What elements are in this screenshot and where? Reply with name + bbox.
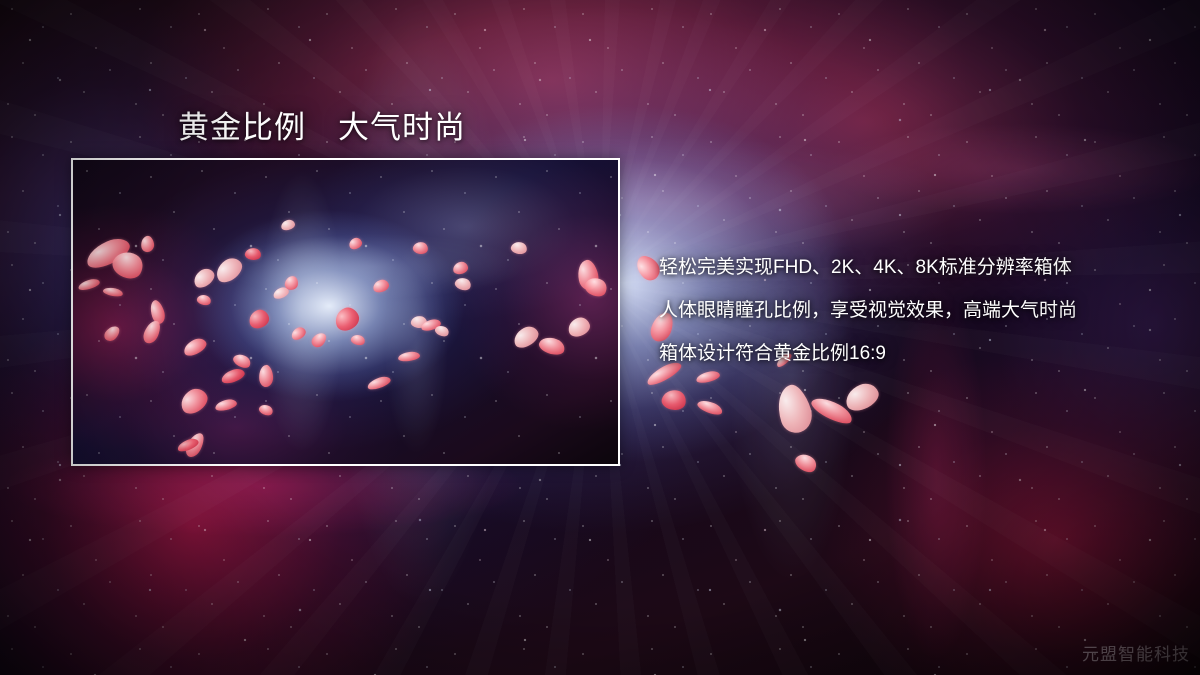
body-line-2: 人体眼睛瞳孔比例，享受视觉效果，高端大气时尚 [659,289,1179,332]
body-line-1: 轻松完美实现FHD、2K、4K、8K标准分辨率箱体 [659,246,1179,289]
framed-image [71,158,620,466]
page-title: 黄金比例 大气时尚 [178,102,466,147]
presentation-slide: 黄金比例 大气时尚 轻松完美实现FHD、2K、4K、8K标准分辨率箱体 人体眼睛… [0,0,1200,675]
body-text-block: 轻松完美实现FHD、2K、4K、8K标准分辨率箱体 人体眼睛瞳孔比例，享受视觉效… [659,246,1179,375]
watermark: 元盟智能科技 [1082,640,1190,665]
body-line-3: 箱体设计符合黄金比例16:9 [659,332,1179,375]
